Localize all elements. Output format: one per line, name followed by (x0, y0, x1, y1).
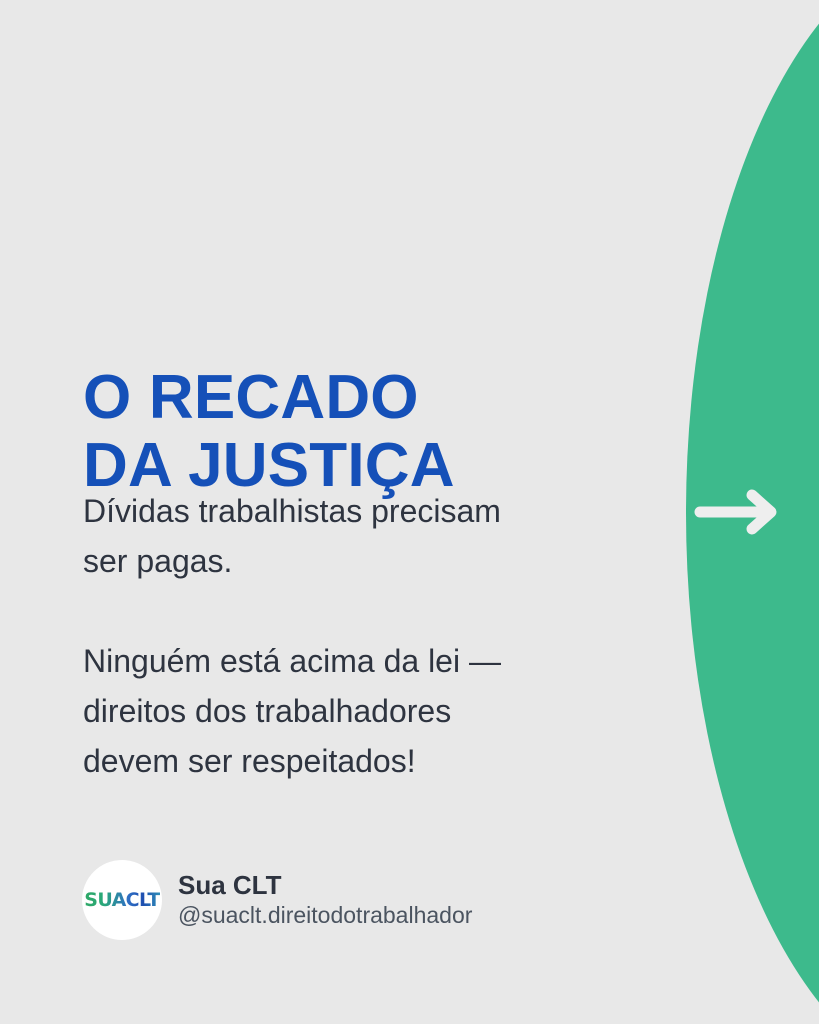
paragraph-spacer (83, 587, 643, 637)
body-copy: Dívidas trabalhistas precisam ser pagas.… (83, 487, 643, 787)
suaclt-logo-icon: SUACLT (84, 889, 160, 911)
paragraph-1-line-1: Dívidas trabalhistas precisam (83, 487, 643, 537)
account-row[interactable]: SUACLT Sua CLT @suaclt.direitodotrabalha… (82, 860, 472, 940)
account-text: Sua CLT @suaclt.direitodotrabalhador (178, 870, 472, 930)
paragraph-1: Dívidas trabalhistas precisam ser pagas. (83, 487, 643, 587)
paragraph-1-line-2: ser pagas. (83, 537, 643, 587)
arrow-right-icon[interactable] (694, 488, 786, 536)
paragraph-2-line-3: devem ser respeitados! (83, 737, 643, 787)
account-handle: @suaclt.direitodotrabalhador (178, 902, 472, 930)
avatar[interactable]: SUACLT (82, 860, 162, 940)
page-title: O RECADO DA JUSTIÇA (83, 364, 683, 500)
paragraph-2-line-1: Ninguém está acima da lei — (83, 637, 643, 687)
paragraph-2-line-2: direitos dos trabalhadores (83, 687, 643, 737)
headline-line-1: O RECADO (83, 364, 683, 432)
account-name: Sua CLT (178, 870, 472, 901)
paragraph-2: Ninguém está acima da lei — direitos dos… (83, 637, 643, 787)
social-post-card: O RECADO DA JUSTIÇA Dívidas trabalhistas… (0, 0, 819, 1024)
